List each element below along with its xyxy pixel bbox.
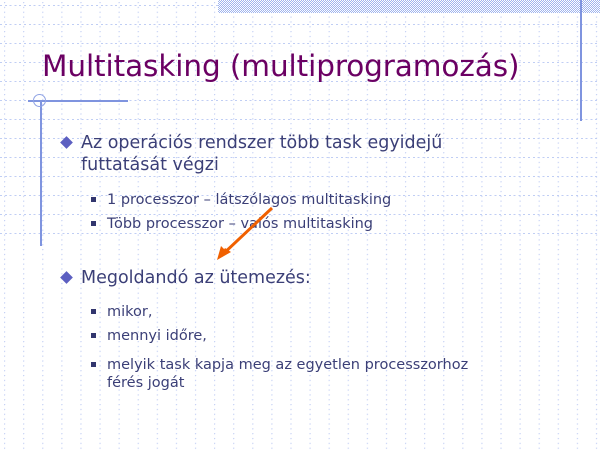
bullet-item-text: Megoldandó az ütemezés: — [81, 268, 311, 290]
square-bullet-icon — [91, 197, 96, 202]
slide-canvas: Multitasking (multiprogramozás) Az operá… — [0, 0, 600, 450]
diamond-bullet-icon — [60, 136, 73, 149]
bullet-item-level2: 1 processzor – látszólagos multitasking — [91, 191, 391, 209]
slide-body: Az operációs rendszer több task egyidejű… — [0, 0, 600, 450]
square-bullet-icon — [91, 309, 96, 314]
bullet-item-text: Az operációs rendszer több task egyidejű… — [81, 133, 442, 176]
square-bullet-icon — [91, 333, 96, 338]
square-bullet-icon — [91, 362, 96, 367]
bullet-item-text: Több processzor – valós multitasking — [107, 215, 373, 233]
bullet-item-level2: Több processzor – valós multitasking — [91, 215, 373, 233]
bullet-item-text: mennyi időre, — [107, 327, 207, 345]
bullet-item-level1: Megoldandó az ütemezés: — [62, 268, 311, 290]
bullet-item-text: mikor, — [107, 303, 152, 321]
diamond-bullet-icon — [60, 271, 73, 284]
bullet-item-level1: Az operációs rendszer több task egyidejű… — [62, 133, 442, 176]
bullet-item-text: melyik task kapja meg az egyetlen proces… — [107, 356, 468, 392]
bullet-item-level2: melyik task kapja meg az egyetlen proces… — [91, 356, 468, 392]
bullet-item-level2: mennyi időre, — [91, 327, 207, 345]
square-bullet-icon — [91, 221, 96, 226]
bullet-item-level2: mikor, — [91, 303, 152, 321]
bullet-item-text: 1 processzor – látszólagos multitasking — [107, 191, 391, 209]
